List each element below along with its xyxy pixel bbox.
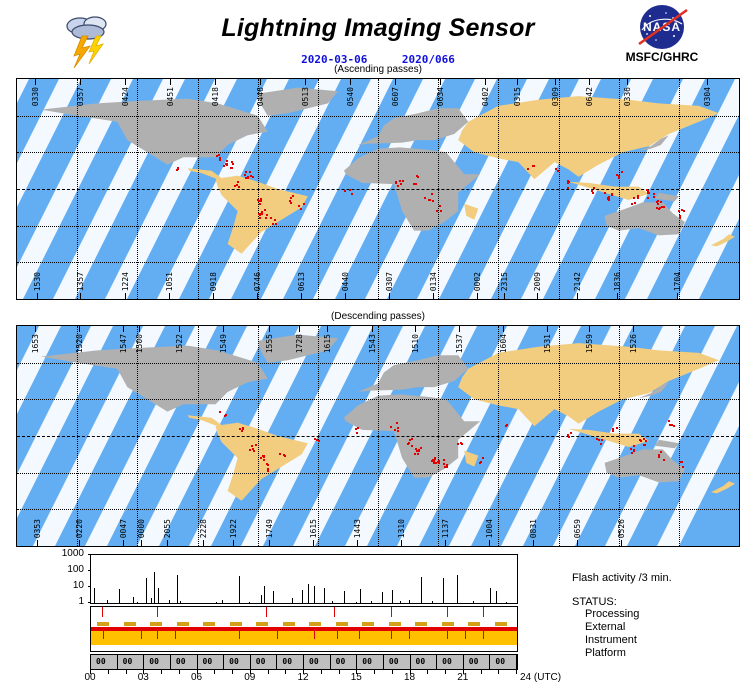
longitude-gridline [77, 79, 78, 299]
lightning-flash-marker [253, 450, 255, 452]
flash-activity-bar [392, 590, 393, 604]
lightning-flash-marker [408, 442, 410, 444]
flash-plot-x-tick [268, 670, 269, 674]
lightning-flash-marker [482, 457, 484, 459]
status-processing-marker [157, 607, 158, 617]
orbit-time-label-bottom: 1051 [165, 272, 174, 291]
orbit-segment-label: 00 [282, 657, 292, 666]
lightning-flash-marker [601, 439, 603, 441]
orbit-time-label-bottom: 0440 [341, 272, 350, 291]
lightning-flash-marker [660, 201, 662, 203]
orbit-time-label-bottom: 1615 [309, 519, 318, 538]
orbit-tick-bottom [37, 293, 38, 299]
orbit-tick-bottom [123, 540, 124, 546]
lightning-flash-marker [267, 468, 269, 470]
orbit-tick-bottom [345, 293, 346, 299]
lightning-flash-marker [658, 456, 660, 458]
lightning-flash-marker [298, 205, 300, 207]
longitude-gridline [438, 79, 439, 299]
longitude-gridline [258, 79, 259, 299]
orbit-tick-bottom [617, 293, 618, 299]
orbit-time-label-bottom: 0831 [529, 519, 538, 538]
lightning-flash-marker [424, 197, 426, 199]
orbit-tick-top [179, 326, 180, 332]
orbit-time-label-top: 0424 [121, 87, 130, 106]
status-platform-marker [359, 631, 360, 639]
orbit-tick-top [415, 326, 416, 332]
lightning-flash-marker [251, 445, 253, 447]
status-platform-row [91, 631, 517, 645]
orbit-time-label-top: 0315 [513, 87, 522, 106]
lightning-flash-marker [275, 223, 277, 225]
orbit-tick-top [589, 79, 590, 85]
flash-activity-bar [496, 591, 497, 604]
lightning-flash-marker [444, 466, 446, 468]
longitude-gridline [378, 79, 379, 299]
status-platform-marker [314, 631, 315, 639]
flash-plot-x-tick [214, 670, 215, 674]
lightning-flash-marker [434, 458, 436, 460]
status-platform-marker [465, 631, 466, 639]
lightning-flash-marker [176, 169, 178, 171]
lightning-flash-marker [479, 462, 481, 464]
orbit-tick-bottom [169, 293, 170, 299]
lightning-flash-marker [219, 411, 221, 413]
orbit-tick-top [35, 79, 36, 85]
orbit-tick-top [589, 326, 590, 332]
lightning-flash-marker [428, 199, 430, 201]
flash-activity-bar [239, 576, 240, 603]
longitude-gridline [198, 79, 199, 299]
orbit-time-label-bottom: 0613 [297, 272, 306, 291]
orbit-time-label-top: 0451 [166, 87, 175, 106]
lightning-flash-marker [266, 463, 268, 465]
longitude-gridline [559, 326, 560, 546]
flash-plot-x-tick [108, 670, 109, 674]
logo-caption: MSFC/GHRC [610, 50, 714, 64]
orbit-time-label-bottom: 0526 [617, 519, 626, 538]
flash-activity-bar [473, 601, 474, 603]
lightning-flash-marker [417, 453, 419, 455]
lightning-flash-marker [557, 170, 559, 172]
flash-activity-bar [154, 572, 155, 603]
lightning-flash-marker [259, 203, 261, 205]
lightning-flash-marker [300, 208, 302, 210]
flash-plot-x-tick-label: 06 [191, 672, 202, 683]
status-external-marker [177, 622, 189, 626]
lightning-flash-marker [255, 444, 257, 446]
lightning-flash-marker [657, 203, 659, 205]
lightning-flash-marker [567, 182, 569, 184]
orbit-tick-top [260, 79, 261, 85]
lightning-flash-marker [400, 183, 402, 185]
orbit-tick-top [627, 79, 628, 85]
orbit-tick-bottom [233, 540, 234, 546]
lightning-flash-marker [242, 427, 244, 429]
flash-activity-bar [94, 588, 95, 603]
orbit-time-label-bottom: 1224 [121, 272, 130, 291]
status-processing-marker [391, 607, 392, 617]
status-external-marker [97, 622, 109, 626]
lightning-flash-marker [647, 197, 649, 199]
lightning-flash-marker [416, 175, 418, 177]
orbit-tick-top [440, 79, 441, 85]
orbit-tick-bottom [313, 540, 314, 546]
orbit-time-label-top: 0336 [623, 87, 632, 106]
flash-activity-bar [371, 601, 372, 603]
orbit-tick-top [547, 326, 548, 332]
lightning-flash-marker [432, 200, 434, 202]
orbit-tick-top [485, 79, 486, 85]
lightning-flash-marker [290, 197, 292, 199]
legend-status-platform: Platform [572, 647, 756, 660]
orbit-segment-label: 00 [309, 657, 319, 666]
flash-activity-bar [382, 592, 383, 603]
orbit-time-label-top: 0402 [481, 87, 490, 106]
lightning-flash-marker [683, 210, 685, 212]
lightning-flash-marker [436, 210, 438, 212]
flash-plot-x-tick-label: 21 [457, 672, 468, 683]
orbit-segment-label: 00 [203, 657, 213, 666]
orbit-time-label-bottom: 1137 [441, 519, 450, 538]
flash-activity-bar [314, 586, 315, 603]
lightning-flash-marker [661, 206, 663, 208]
orbit-time-label-bottom: 0002 [473, 272, 482, 291]
longitude-gridline [559, 79, 560, 299]
status-external-marker [336, 622, 348, 626]
descending-map-canvas: 1653152015471500152215491555172816151543… [16, 325, 740, 547]
orbit-tick-top [269, 326, 270, 332]
orbit-time-label-bottom: 2315 [500, 272, 509, 291]
status-platform-marker [391, 631, 392, 639]
lightning-flash-marker [668, 420, 670, 422]
flash-plot-x-tick [161, 670, 162, 674]
orbit-tick-bottom [301, 293, 302, 299]
status-external-marker [389, 622, 401, 626]
status-external-marker [415, 622, 427, 626]
lightning-flash-marker [395, 182, 397, 184]
status-external-marker [309, 622, 321, 626]
lightning-flash-marker [457, 443, 459, 445]
lightning-flash-marker [653, 193, 655, 195]
lightning-flash-marker [394, 429, 396, 431]
status-platform-marker [447, 631, 448, 639]
status-external-marker [230, 622, 242, 626]
orbit-time-label-top: 1559 [585, 334, 594, 353]
lightning-flash-marker [643, 444, 645, 446]
status-platform-marker [239, 631, 240, 639]
flash-activity-bar [249, 602, 250, 603]
orbit-time-label-top: 0634 [436, 87, 445, 106]
lightning-flash-marker [418, 450, 420, 452]
orbit-time-label-bottom: 0000 [137, 519, 146, 538]
status-processing-marker [334, 607, 335, 617]
lightning-flash-marker [260, 457, 262, 459]
flash-activity-bar [308, 584, 309, 603]
legend-flash-label: Flash activity /3 min. [572, 572, 756, 584]
lightning-flash-marker [431, 460, 433, 462]
flash-plot-x-tick [481, 670, 482, 674]
orbit-time-label-top: 1500 [135, 334, 144, 353]
lightning-flash-marker [439, 205, 441, 207]
lightning-flash-marker [223, 165, 225, 167]
lightning-flash-marker [230, 167, 232, 169]
lightning-flash-marker [446, 466, 448, 468]
lightning-flash-marker [272, 223, 274, 225]
orbit-tick-top [79, 326, 80, 332]
orbit-segment-label: 00 [336, 657, 346, 666]
flash-activity-bar [344, 591, 345, 604]
longitude-gridline [77, 326, 78, 546]
lightning-flash-marker [267, 470, 269, 472]
legend-status-external: External [572, 621, 756, 634]
lightning-flash-marker [435, 462, 437, 464]
flash-activity-plot [90, 554, 518, 604]
lightning-flash-marker [653, 196, 655, 198]
orbit-tick-top [35, 326, 36, 332]
lightning-flash-marker [420, 447, 422, 449]
lightning-flash-marker [657, 200, 659, 202]
lightning-flash-marker [247, 177, 249, 179]
lightning-flash-marker [245, 171, 247, 173]
utc-axis-label: 24 (UTC) [520, 672, 561, 683]
flash-plot-x-tick [339, 670, 340, 674]
orbit-time-label-top: 1526 [629, 334, 638, 353]
lightning-flash-marker [411, 445, 413, 447]
flash-plot-x-tick-label: 09 [244, 672, 255, 683]
lightning-flash-marker [663, 459, 665, 461]
flash-activity-bar [169, 600, 170, 603]
flash-activity-bar [356, 602, 357, 603]
orbit-tick-bottom [167, 540, 168, 546]
status-external-marker [203, 622, 215, 626]
flash-plot-y-tick-label: 1000 [50, 548, 84, 559]
flash-plot-x-tick-label: 00 [84, 672, 95, 683]
orbit-tick-bottom [477, 293, 478, 299]
flash-activity-panel: 1000100101 00000000000000000000000000000… [0, 550, 756, 680]
flash-activity-bar [119, 589, 120, 603]
orbit-time-label-top: 0607 [391, 87, 400, 106]
orbit-time-label-bottom: 1836 [613, 272, 622, 291]
lightning-flash-marker [259, 217, 261, 219]
orbit-time-label-bottom: 2009 [533, 272, 542, 291]
flash-plot-y-tick-label: 1 [50, 596, 84, 607]
lightning-flash-marker [177, 167, 179, 169]
orbit-tick-top [372, 326, 373, 332]
status-processing-marker [102, 607, 103, 617]
orbit-time-label-top: 1543 [368, 334, 377, 353]
orbit-time-label-bottom: 2055 [163, 519, 172, 538]
lightning-flash-marker [673, 425, 675, 427]
flash-plot-y-tick-label: 100 [50, 564, 84, 575]
orbit-time-label-top: 1728 [295, 334, 304, 353]
orbit-tick-bottom [489, 540, 490, 546]
descending-passes-map: 1653152015471500152215491555172816151543… [16, 325, 740, 547]
lightning-flash-marker [443, 459, 445, 461]
lightning-flash-marker [630, 448, 632, 450]
orbit-time-label-top: 1520 [75, 334, 84, 353]
orbit-tick-bottom [80, 293, 81, 299]
flash-activity-bar [158, 588, 159, 603]
flash-plot-y-tick-label: 10 [50, 580, 84, 591]
flash-plot-x-tick [232, 670, 233, 674]
lightning-flash-marker [634, 202, 636, 204]
longitude-gridline [198, 326, 199, 546]
orbit-tick-bottom [533, 540, 534, 546]
orbit-time-label-bottom: 0134 [429, 272, 438, 291]
orbit-tick-bottom [269, 540, 270, 546]
lightning-flash-marker [390, 426, 392, 428]
orbit-tick-bottom [203, 540, 204, 546]
lightning-flash-marker [555, 168, 557, 170]
lightning-flash-marker [621, 171, 623, 173]
orbit-tick-top [517, 79, 518, 85]
lightning-flash-marker [357, 427, 359, 429]
lightning-flash-marker [225, 414, 227, 416]
orbit-time-label-top: 1604 [499, 334, 508, 353]
orbit-time-label-top: 0309 [551, 87, 560, 106]
orbit-segment-label: 00 [96, 657, 106, 666]
chart-legend: Flash activity /3 min. STATUS: Processin… [572, 572, 756, 660]
longitude-gridline [258, 326, 259, 546]
orbit-tick-bottom [577, 293, 578, 299]
lightning-flash-marker [618, 177, 620, 179]
lightning-flash-marker [411, 438, 413, 440]
orbit-tick-top [80, 79, 81, 85]
lightning-flash-marker [263, 456, 265, 458]
longitude-gridline [378, 326, 379, 546]
longitude-gridline [318, 326, 319, 546]
lightning-flash-marker [397, 185, 399, 187]
orbit-tick-bottom [257, 293, 258, 299]
lightning-flash-marker [292, 195, 294, 197]
lightning-flash-marker [592, 192, 594, 194]
flash-activity-bar [133, 597, 134, 603]
orbit-segment-label: 00 [469, 657, 479, 666]
lightning-flash-marker [679, 217, 681, 219]
lightning-flash-marker [236, 184, 238, 186]
status-external-marker [495, 622, 507, 626]
orbit-tick-top [707, 79, 708, 85]
longitude-gridline [619, 79, 620, 299]
flash-activity-bar [421, 577, 422, 604]
flash-activity-bar [409, 600, 410, 603]
orbit-time-label-top: 0357 [76, 87, 85, 106]
lightning-flash-marker [402, 180, 404, 182]
status-processing-marker [266, 607, 267, 617]
orbit-tick-top [305, 79, 306, 85]
flash-activity-bar [506, 602, 507, 603]
flash-plot-x-tick-label: 12 [297, 672, 308, 683]
orbit-tick-bottom [357, 540, 358, 546]
flash-plot-x-axis: 0003060912151821 [90, 670, 518, 680]
lightning-flash-marker [633, 197, 635, 199]
orbit-time-label-top: 0418 [211, 87, 220, 106]
orbit-tick-top [503, 326, 504, 332]
longitude-gridline [498, 326, 499, 546]
status-external-marker [283, 622, 295, 626]
flash-activity-bar [261, 595, 262, 603]
status-external-marker [468, 622, 480, 626]
lightning-flash-marker [663, 206, 665, 208]
lightning-flash-marker [263, 459, 265, 461]
flash-activity-bar [443, 578, 444, 603]
lightning-flash-marker [568, 436, 570, 438]
lightning-flash-marker [682, 466, 684, 468]
flash-plot-x-tick [427, 670, 428, 674]
lightning-flash-marker [637, 195, 639, 197]
status-platform-marker [103, 631, 104, 639]
lightning-flash-marker [219, 159, 221, 161]
flash-activity-bar [151, 598, 152, 603]
orbit-time-label-top: 1555 [265, 334, 274, 353]
orbit-segments-bar: 00000000000000000000000000000000 [90, 654, 518, 670]
lightning-flash-marker [261, 213, 263, 215]
status-platform-marker [157, 631, 158, 639]
lightning-flash-marker [633, 445, 635, 447]
lightning-flash-marker [618, 175, 620, 177]
nasa-meatball-icon: NASA [628, 4, 696, 50]
status-platform-marker [483, 631, 484, 639]
flash-activity-bar [180, 601, 181, 603]
orbit-time-label-top: 1549 [219, 334, 228, 353]
status-platform-marker [175, 631, 176, 639]
flash-activity-bar [490, 588, 491, 603]
flash-plot-x-tick [321, 670, 322, 674]
flash-activity-bar [273, 591, 274, 604]
lightning-flash-marker [249, 449, 251, 451]
lightning-flash-marker [438, 460, 440, 462]
flash-activity-bar [146, 578, 147, 603]
orbit-segment-label: 00 [362, 657, 372, 666]
orbit-tick-top [223, 326, 224, 332]
orbit-tick-top [299, 326, 300, 332]
flash-plot-x-tick-label: 15 [351, 672, 362, 683]
lightning-flash-marker [567, 187, 569, 189]
lightning-flash-marker [260, 199, 262, 201]
descending-subtitle: (Descending passes) [0, 311, 756, 322]
status-external-marker [256, 622, 268, 626]
lightning-flash-marker [216, 155, 218, 157]
orbit-segment-label: 00 [229, 657, 239, 666]
longitude-gridline [619, 326, 620, 546]
lightning-flash-marker [237, 181, 239, 183]
orbit-time-label-top: 0330 [31, 87, 40, 106]
lightning-flash-marker [259, 213, 261, 215]
orbit-tick-top [459, 326, 460, 332]
lightning-flash-marker [252, 176, 254, 178]
orbit-tick-bottom [141, 540, 142, 546]
orbit-time-label-bottom: 1922 [229, 519, 238, 538]
lightning-flash-marker [303, 203, 305, 205]
lightning-flash-marker [669, 424, 671, 426]
orbit-time-label-top: 0304 [703, 87, 712, 106]
lightning-flash-marker [593, 187, 595, 189]
flash-activity-bar [432, 601, 433, 603]
orbit-tick-top [139, 326, 140, 332]
status-processing-row [91, 607, 517, 619]
orbit-segment-label: 00 [442, 657, 452, 666]
orbit-time-label-bottom: 1443 [353, 519, 362, 538]
flash-plot-x-tick [445, 670, 446, 674]
lightning-flash-marker [279, 453, 281, 455]
orbit-tick-bottom [537, 293, 538, 299]
orbit-time-label-top: 0642 [585, 87, 594, 106]
flash-activity-bar [292, 598, 293, 603]
orbit-tick-bottom [401, 540, 402, 546]
orbit-time-label-bottom: 1357 [76, 272, 85, 291]
lightning-flash-marker [318, 440, 320, 442]
